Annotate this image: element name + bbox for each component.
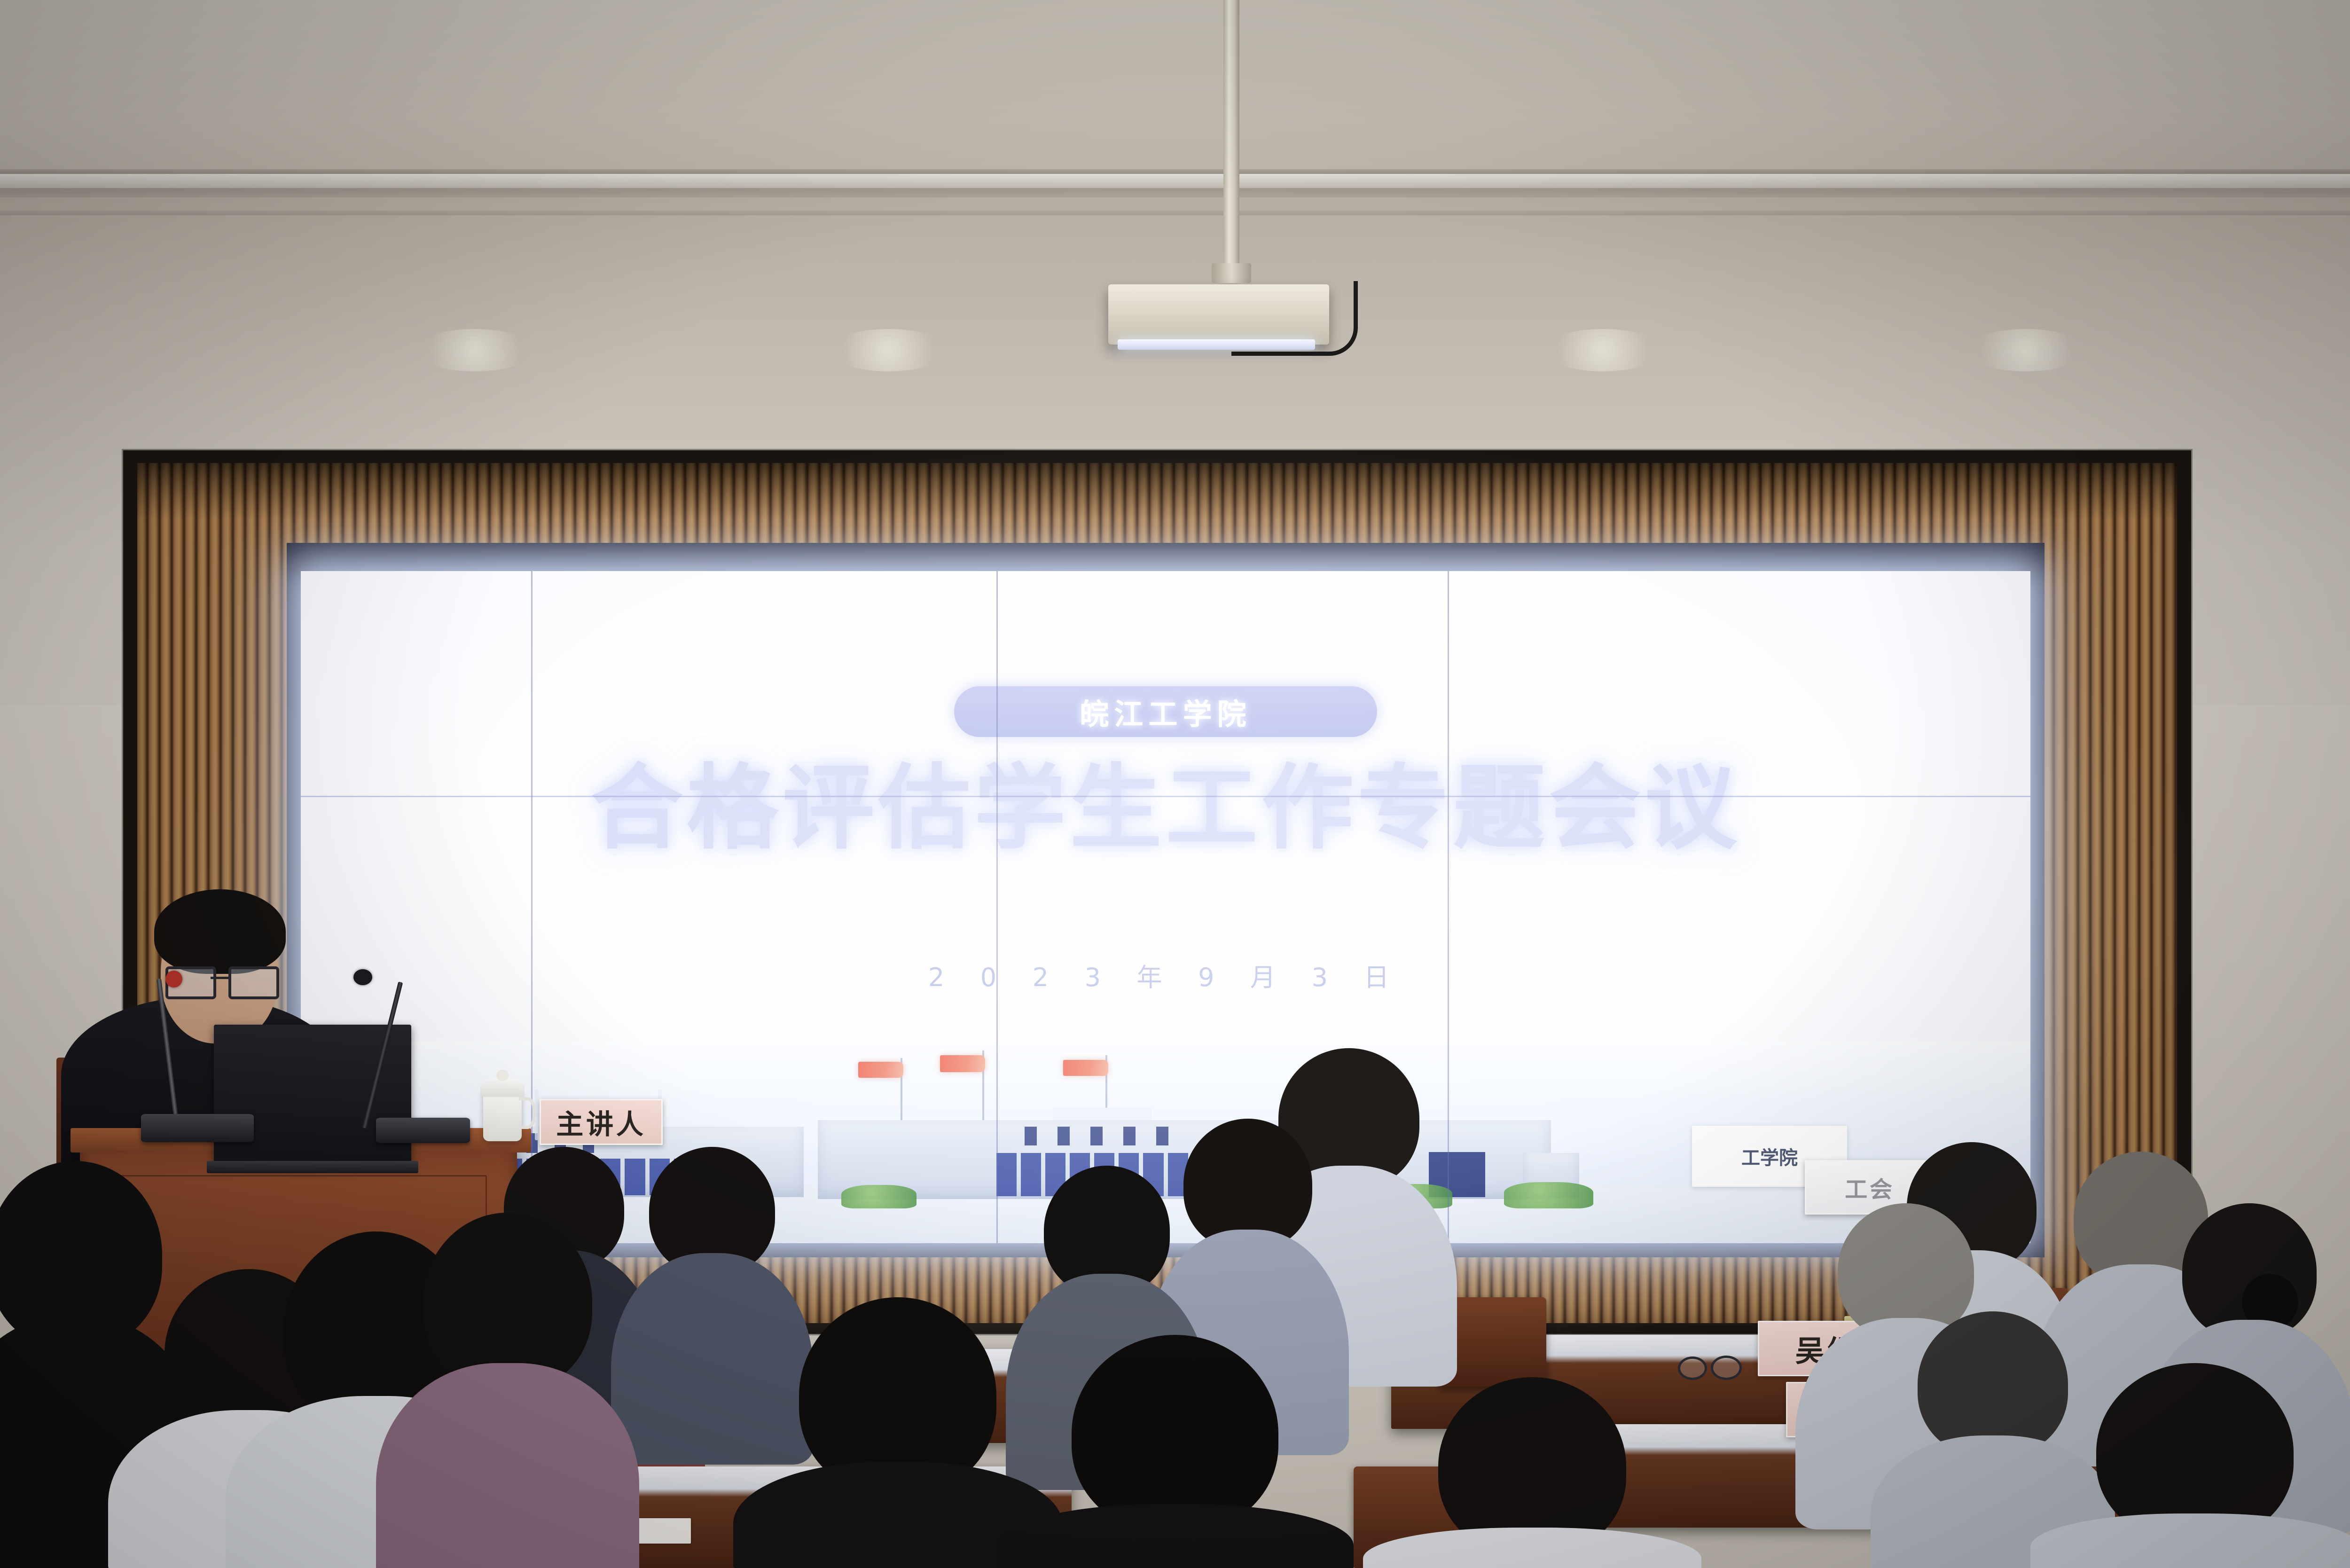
flag-1 xyxy=(858,1062,903,1078)
slide-title: 合格评估学生工作专题会议 xyxy=(301,759,2030,859)
slide-mini-card-text: 工学院 xyxy=(1741,1143,1798,1170)
placard-stand-speaker-left xyxy=(535,1090,539,1140)
screenshot-root: 皖江工学院 合格评估学生工作专题会议 2 0 2 3 年 9 月 3 日 xyxy=(0,0,2350,1568)
slide-org-badge-label: 皖江工学院 xyxy=(1080,690,1252,733)
ceiling-trim-upper xyxy=(0,169,2350,174)
teacup-knob xyxy=(496,1070,509,1081)
teacup xyxy=(483,1091,522,1141)
flag-2 xyxy=(940,1055,985,1072)
ceiling-trim-lower xyxy=(0,211,2350,215)
flag-3 xyxy=(1063,1060,1108,1076)
downlight-1 xyxy=(414,329,536,371)
speaker-glasses-right xyxy=(228,966,279,999)
desk-glasses xyxy=(1678,1354,1748,1380)
downlight-2 xyxy=(827,329,949,371)
microphone-head-2 xyxy=(353,969,372,985)
placard-speaker: 主讲人 xyxy=(540,1099,663,1145)
presenter-laptop-base[interactable] xyxy=(207,1161,418,1173)
slide-date: 2 0 2 3 年 9 月 3 日 xyxy=(301,956,2030,994)
speaker-glasses-bridge xyxy=(211,977,228,979)
panel-seam-v-1 xyxy=(531,571,533,1243)
audience-member-front-8 xyxy=(2030,1363,2350,1568)
downlight-4 xyxy=(1965,329,2087,371)
placard-speaker-label: 主讲人 xyxy=(556,1102,646,1142)
projector-cable xyxy=(1231,281,1358,356)
slide-org-badge: 皖江工学院 xyxy=(954,686,1377,737)
microphone-base-2[interactable] xyxy=(376,1118,470,1143)
audience-member-front-4 xyxy=(376,1213,639,1568)
panel-seam-h-1 xyxy=(301,796,2030,797)
ceiling xyxy=(0,0,2350,197)
presenter-laptop-screen[interactable] xyxy=(214,1025,411,1166)
wood-wall-top-shadow xyxy=(137,463,2177,519)
microphone-head-1 xyxy=(165,971,182,988)
speaker-hair xyxy=(154,889,286,974)
audience-member-front-6 xyxy=(996,1335,1354,1568)
teacup-handle xyxy=(519,1097,536,1129)
projector-pole xyxy=(1223,0,1239,263)
audience-member-front-7 xyxy=(1363,1377,1701,1568)
ceiling-trim-glow xyxy=(0,174,2350,190)
panel-seam-v-2 xyxy=(996,571,998,1243)
downlight-3 xyxy=(1542,329,1664,371)
microphone-base-1[interactable] xyxy=(141,1114,254,1142)
projector-mount-collar xyxy=(1212,263,1251,283)
